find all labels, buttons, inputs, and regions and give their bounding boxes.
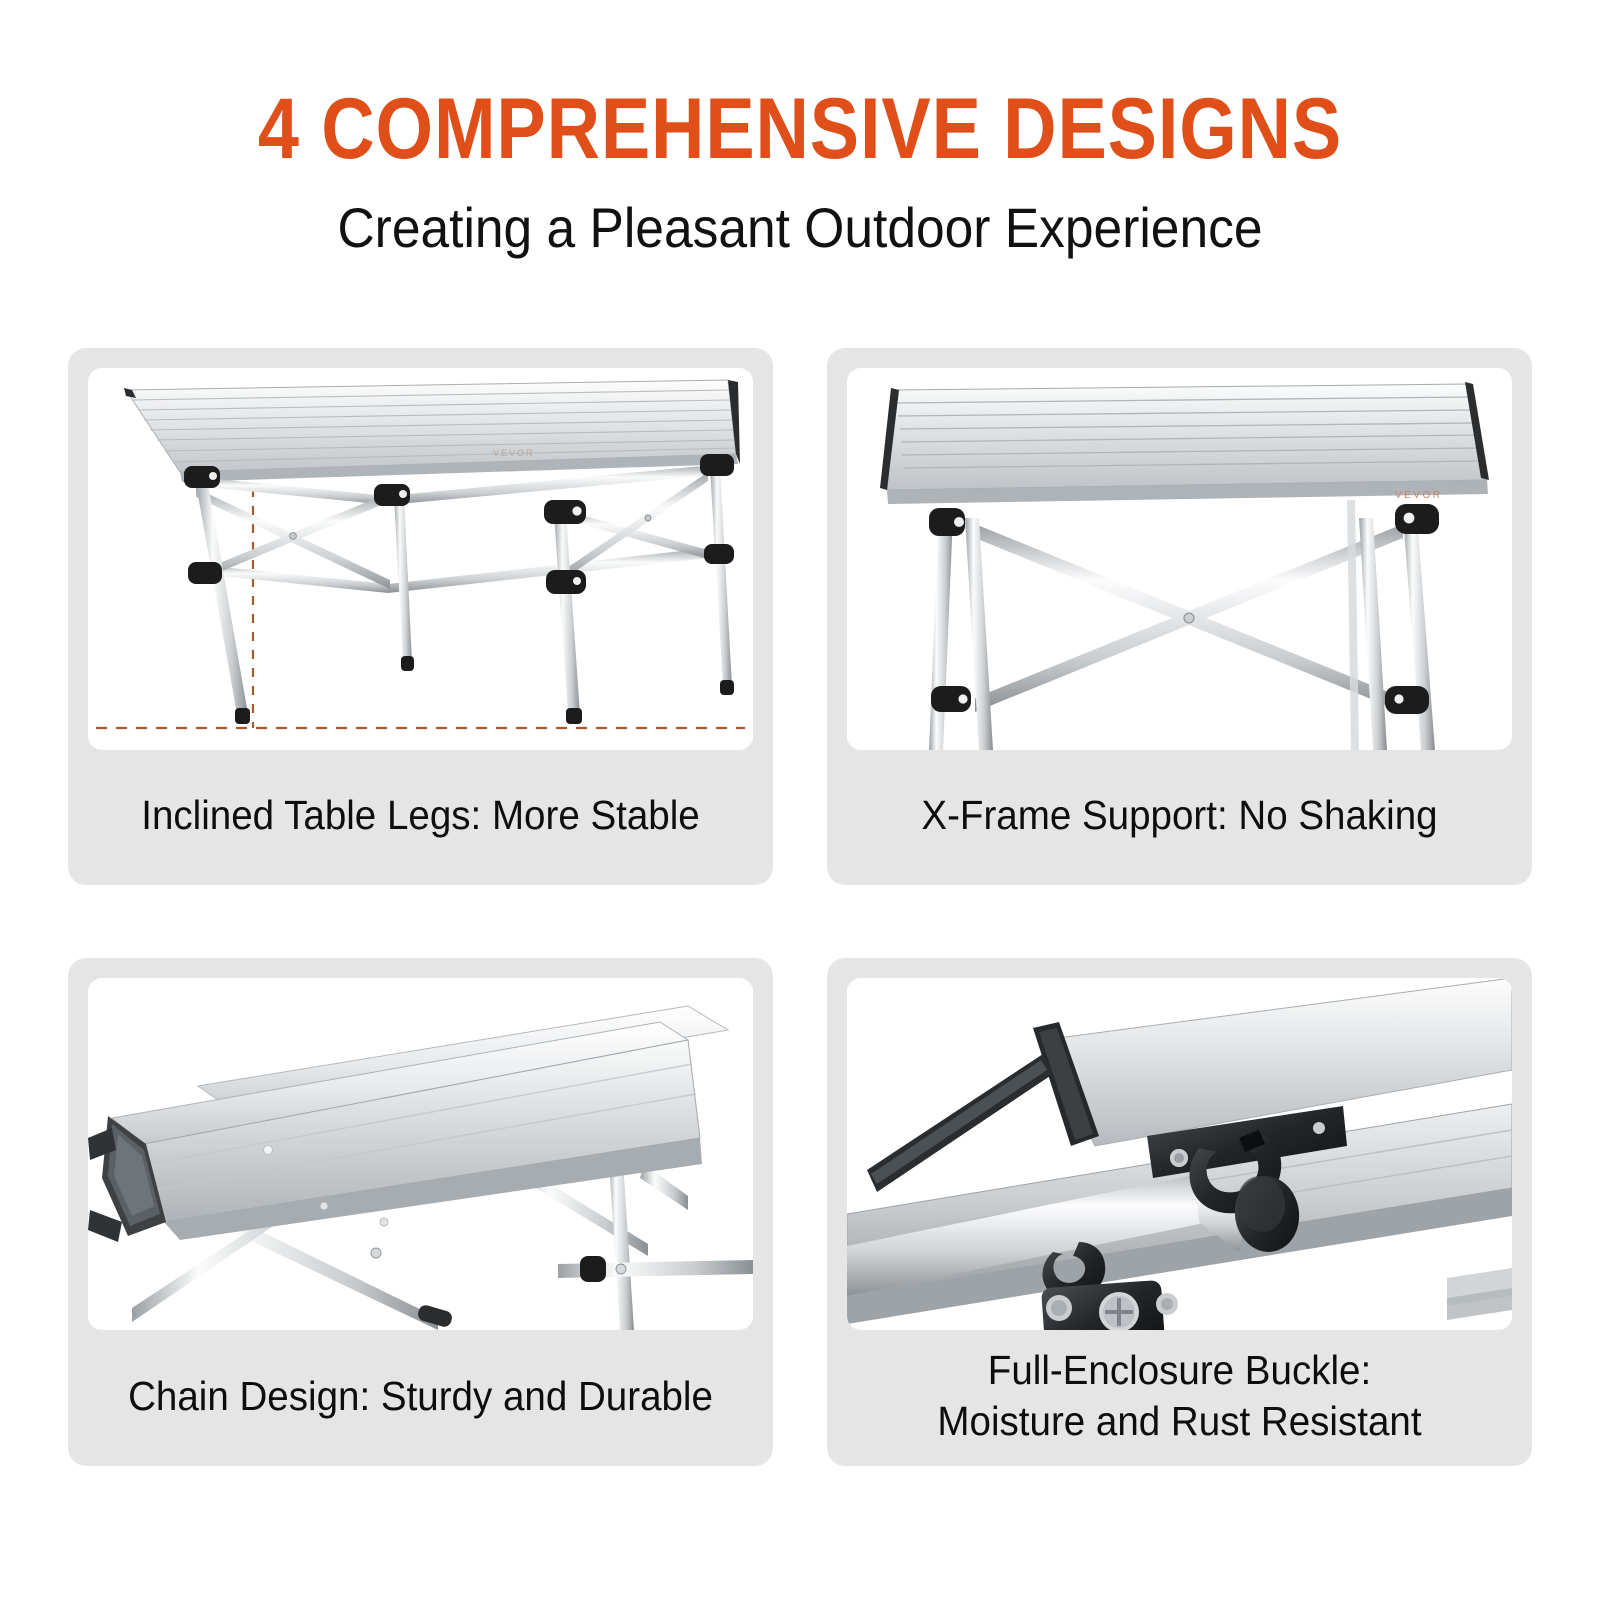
feature-caption-full-enclosure-buckle: Full-Enclosure Buckle: Moisture and Rust… <box>867 1330 1492 1466</box>
tabletop-slats: VEVOR <box>880 382 1489 504</box>
feature-caption-chain-design: Chain Design: Sturdy and Durable <box>108 1330 733 1466</box>
product-photo-inclined-legs: VEVOR <box>88 368 753 750</box>
infographic-page: 4 COMPREHENSIVE DESIGNS Creating a Pleas… <box>0 0 1600 1600</box>
product-photo-full-enclosure-buckle <box>847 978 1512 1330</box>
page-title: 4 COMPREHENSIVE DESIGNS <box>112 86 1488 172</box>
inclined-legs-illustration: VEVOR <box>88 368 753 750</box>
feature-card-inclined-legs: VEVOR <box>68 348 773 885</box>
feature-card-x-frame: VEVOR <box>827 348 1532 885</box>
rail-buckle <box>580 1256 606 1282</box>
feature-caption-inclined-legs: Inclined Table Legs: More Stable <box>108 750 733 885</box>
chain-design-illustration <box>88 978 753 1330</box>
full-enclosure-buckle-illustration <box>847 978 1512 1330</box>
feature-card-full-enclosure-buckle: Full-Enclosure Buckle: Moisture and Rust… <box>827 958 1532 1466</box>
caption-line-1: Full-Enclosure Buckle: <box>988 1347 1371 1393</box>
brand-mark: VEVOR <box>1395 490 1443 501</box>
feature-caption-x-frame: X-Frame Support: No Shaking <box>867 750 1492 885</box>
feature-card-grid: VEVOR <box>68 348 1532 1466</box>
page-subtitle: Creating a Pleasant Outdoor Experience <box>64 200 1536 256</box>
brand-mark: VEVOR <box>493 448 535 458</box>
header: 4 COMPREHENSIVE DESIGNS Creating a Pleas… <box>0 86 1600 256</box>
feature-card-chain-design: Chain Design: Sturdy and Durable <box>68 958 773 1466</box>
tabletop-slats: VEVOR <box>124 380 740 482</box>
caption-line-2: Moisture and Rust Resistant <box>937 1398 1421 1444</box>
product-photo-x-frame: VEVOR <box>847 368 1512 750</box>
x-brace-pivot <box>1184 613 1194 623</box>
x-frame-illustration: VEVOR <box>847 368 1512 750</box>
product-photo-chain-design <box>88 978 753 1330</box>
